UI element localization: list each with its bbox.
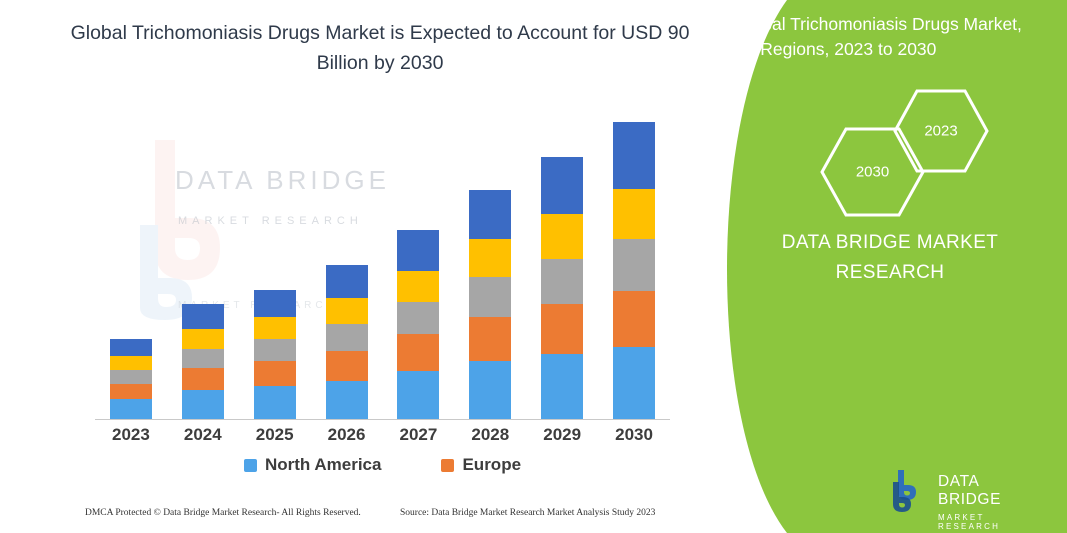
stacked-bar [254, 290, 296, 420]
bar-series-container [95, 110, 670, 420]
legend-item[interactable]: North America [244, 455, 382, 475]
dbmr-logo: DATA BRIDGE MARKET RESEARCH [890, 468, 1040, 514]
bar-segment [613, 189, 655, 239]
hexagon-2023: 2023 [892, 88, 990, 174]
bar-segment [326, 351, 368, 381]
bar-segment [469, 190, 511, 239]
stacked-bar [613, 122, 655, 420]
bar-segment [182, 368, 224, 390]
bar-segment [541, 304, 583, 353]
bar-column [95, 110, 167, 420]
bar-column [239, 110, 311, 420]
x-axis-label: 2029 [526, 425, 598, 445]
dbmr-logo-line1: DATA BRIDGE [938, 473, 1040, 509]
legend-item[interactable]: Europe [441, 455, 521, 475]
bar-segment [469, 239, 511, 277]
bar-segment [397, 271, 439, 302]
bar-segment [469, 277, 511, 316]
bar-segment [397, 371, 439, 420]
panel-brand-name: DATA BRIDGE MARKET RESEARCH [735, 228, 1045, 288]
bar-segment [254, 317, 296, 339]
bar-segment [397, 302, 439, 334]
footer-copyright: DMCA Protected © Data Bridge Market Rese… [85, 508, 361, 518]
bar-segment [397, 334, 439, 371]
bar-segment [397, 230, 439, 271]
bar-segment [110, 370, 152, 385]
legend-label: North America [265, 455, 382, 475]
bar-chart-plot [95, 110, 670, 420]
x-axis-label: 2028 [454, 425, 526, 445]
bar-column [454, 110, 526, 420]
stacked-bar [541, 157, 583, 420]
stacked-bar [469, 190, 511, 420]
bar-segment [326, 324, 368, 351]
bar-segment [182, 304, 224, 329]
bar-segment [326, 298, 368, 324]
bar-column [526, 110, 598, 420]
x-axis-label: 2030 [598, 425, 670, 445]
stacked-bar [326, 265, 368, 420]
bar-segment [326, 381, 368, 420]
legend-label: Europe [462, 455, 521, 475]
bar-segment [469, 361, 511, 420]
x-axis-label: 2024 [167, 425, 239, 445]
x-axis-label: 2025 [239, 425, 311, 445]
panel-brand-line1: DATA BRIDGE MARKET [782, 232, 999, 253]
legend-swatch-icon [441, 459, 454, 472]
bar-column [383, 110, 455, 420]
bar-segment [110, 384, 152, 399]
bar-segment [182, 390, 224, 420]
dbmr-logo-text: DATA BRIDGE MARKET RESEARCH [938, 473, 1040, 531]
bar-segment [254, 361, 296, 386]
bar-segment [254, 339, 296, 361]
footer: DMCA Protected © Data Bridge Market Rese… [0, 508, 700, 528]
bar-segment [182, 349, 224, 369]
bar-segment [182, 329, 224, 349]
x-axis-label: 2026 [311, 425, 383, 445]
x-axis-tick-labels: 20232024202520262027202820292030 [95, 425, 670, 445]
panel-title: Global Trichomoniasis Drugs Market, By R… [735, 12, 1045, 62]
x-axis-label: 2027 [383, 425, 455, 445]
bar-segment [110, 399, 152, 420]
bar-segment [541, 157, 583, 215]
bar-segment [613, 122, 655, 188]
bar-segment [613, 291, 655, 348]
x-axis-label: 2023 [95, 425, 167, 445]
page-title: Global Trichomoniasis Drugs Market is Ex… [60, 18, 700, 78]
bar-column [167, 110, 239, 420]
bar-segment [613, 347, 655, 420]
infographic-root: Global Trichomoniasis Drugs Market is Ex… [0, 0, 1067, 533]
bar-segment [254, 290, 296, 317]
bar-segment [541, 354, 583, 420]
bar-segment [541, 214, 583, 258]
bar-segment [110, 339, 152, 356]
stacked-bar [397, 230, 439, 420]
bar-segment [613, 239, 655, 291]
panel-brand-line2: RESEARCH [836, 262, 945, 283]
bar-column [311, 110, 383, 420]
dbmr-logo-mark [890, 468, 930, 512]
stacked-bar [110, 339, 152, 420]
hexagon-group: 2030 2023 [820, 98, 990, 203]
bar-column [598, 110, 670, 420]
hexagon-2023-label: 2023 [892, 123, 990, 140]
dbmr-logo-line2: MARKET RESEARCH [938, 513, 1040, 531]
bar-segment [541, 259, 583, 305]
bar-segment [110, 356, 152, 370]
bar-segment [326, 265, 368, 298]
legend-swatch-icon [244, 459, 257, 472]
chart-legend: North AmericaEurope [95, 455, 670, 475]
bar-segment [254, 386, 296, 420]
stacked-bar [182, 304, 224, 420]
x-axis-line [95, 419, 670, 420]
bar-segment [469, 317, 511, 361]
footer-source: Source: Data Bridge Market Research Mark… [400, 508, 655, 518]
